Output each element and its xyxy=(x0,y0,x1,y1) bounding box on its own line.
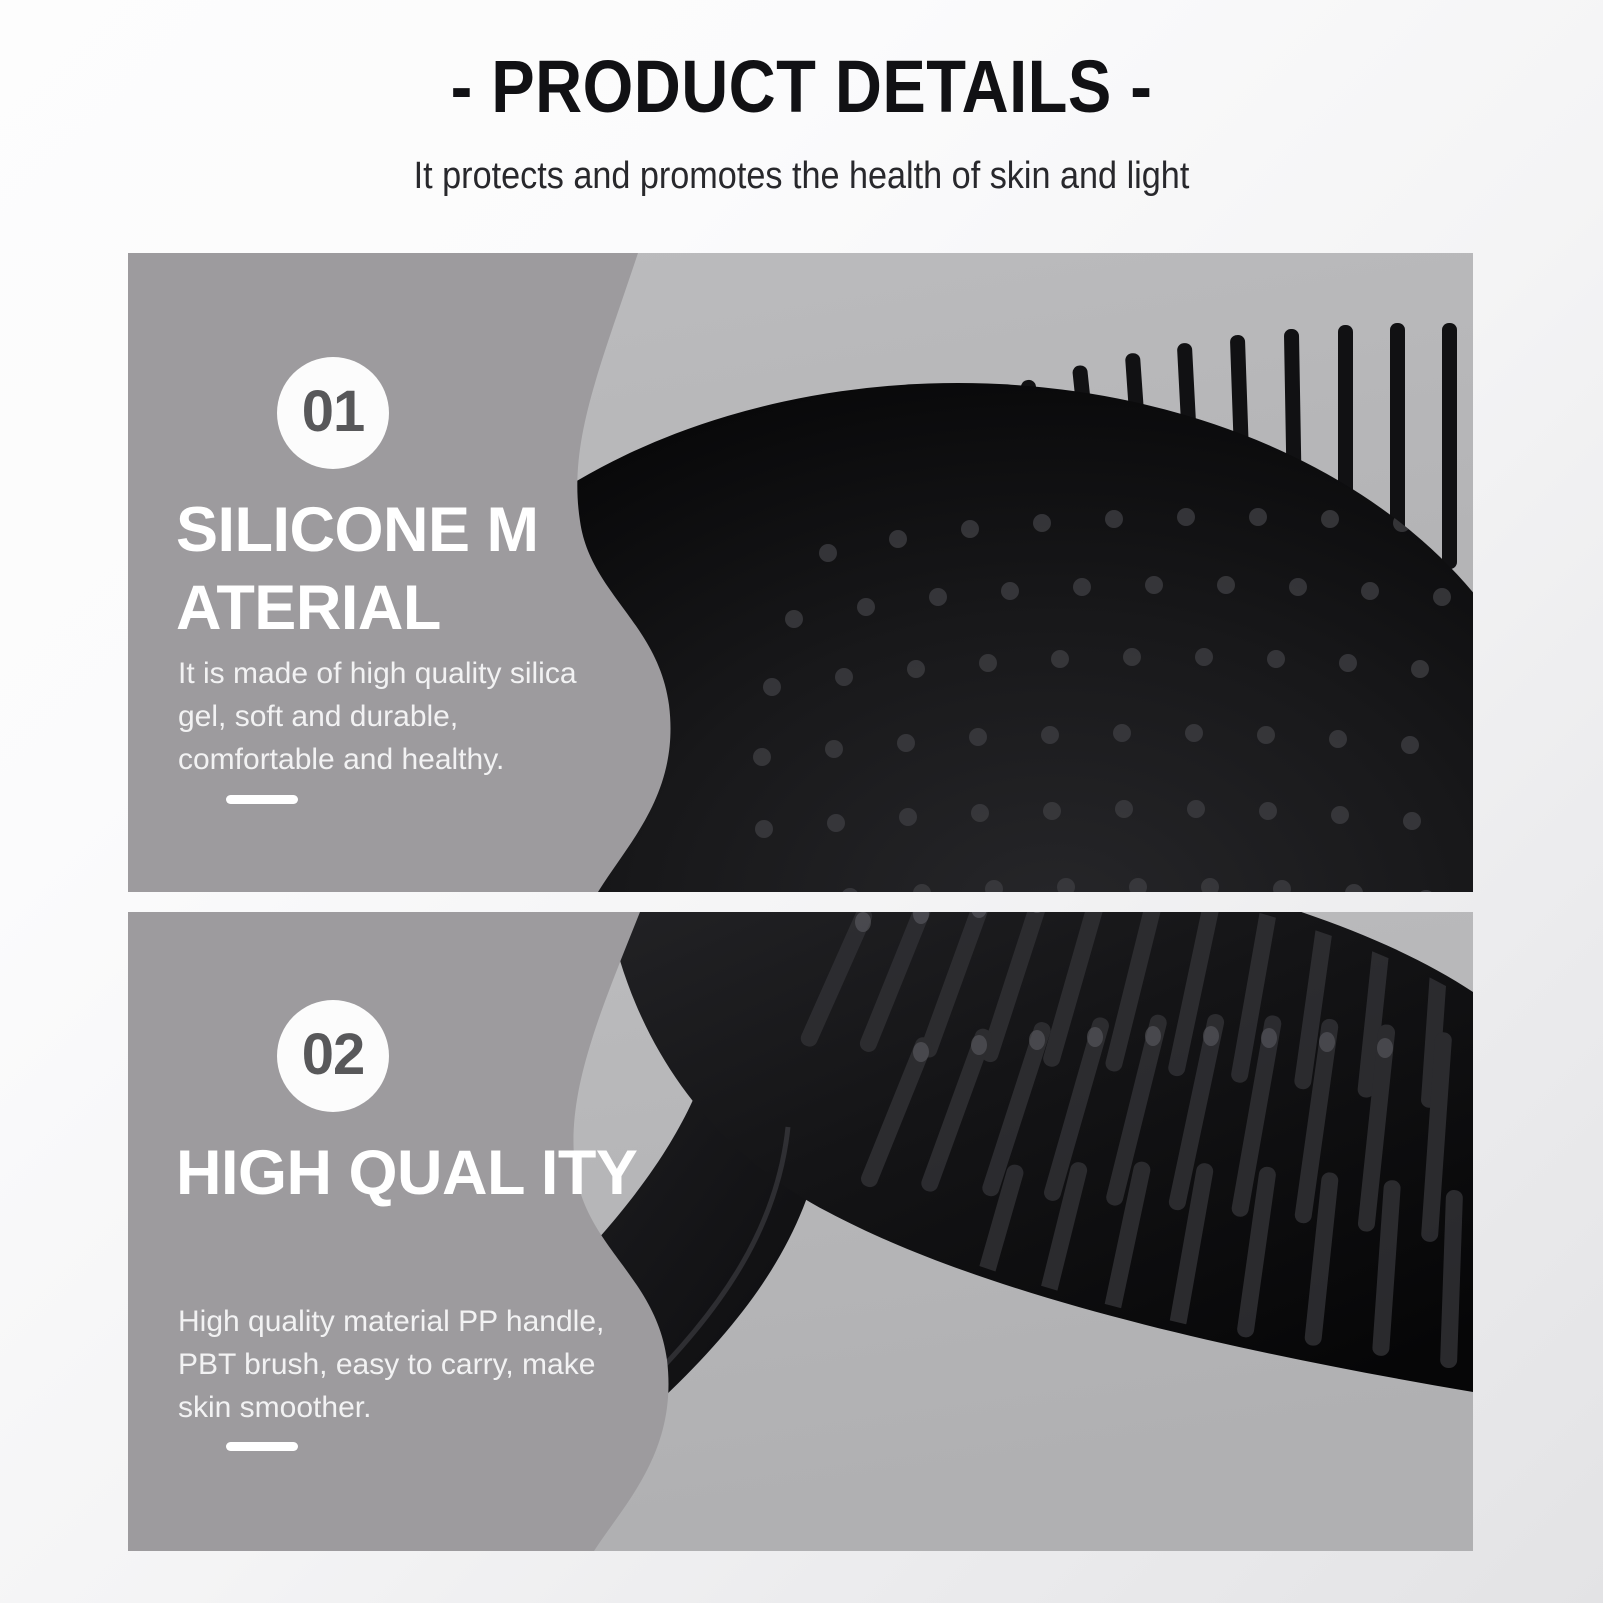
card-02-heading: HIGH QUAL ITY xyxy=(176,1134,646,1212)
card-01-number: 01 xyxy=(302,378,365,445)
page-header: - PRODUCT DETAILS - It protects and prom… xyxy=(0,0,1603,250)
page-subtitle: It protects and promotes the health of s… xyxy=(80,155,1523,198)
feature-card-01: 01 SILICONE M ATERIAL It is made of high… xyxy=(128,253,1473,892)
card-02-description: High quality material PP handle, PBT bru… xyxy=(178,1300,608,1430)
card-01-heading: SILICONE M ATERIAL xyxy=(176,491,646,647)
page-title: - PRODUCT DETAILS - xyxy=(96,44,1507,129)
card-01-number-badge: 01 xyxy=(277,357,389,469)
card-01-description: It is made of high quality silica gel, s… xyxy=(178,652,608,782)
card-01-accent-rule xyxy=(226,795,298,804)
card-02-content: 02 HIGH QUAL ITY High quality material P… xyxy=(176,912,636,1551)
card-02-number: 02 xyxy=(302,1021,365,1088)
card-02-number-badge: 02 xyxy=(277,1000,389,1112)
feature-card-02: 02 HIGH QUAL ITY High quality material P… xyxy=(128,912,1473,1551)
card-01-content: 01 SILICONE M ATERIAL It is made of high… xyxy=(176,253,636,892)
card-02-accent-rule xyxy=(226,1442,298,1451)
